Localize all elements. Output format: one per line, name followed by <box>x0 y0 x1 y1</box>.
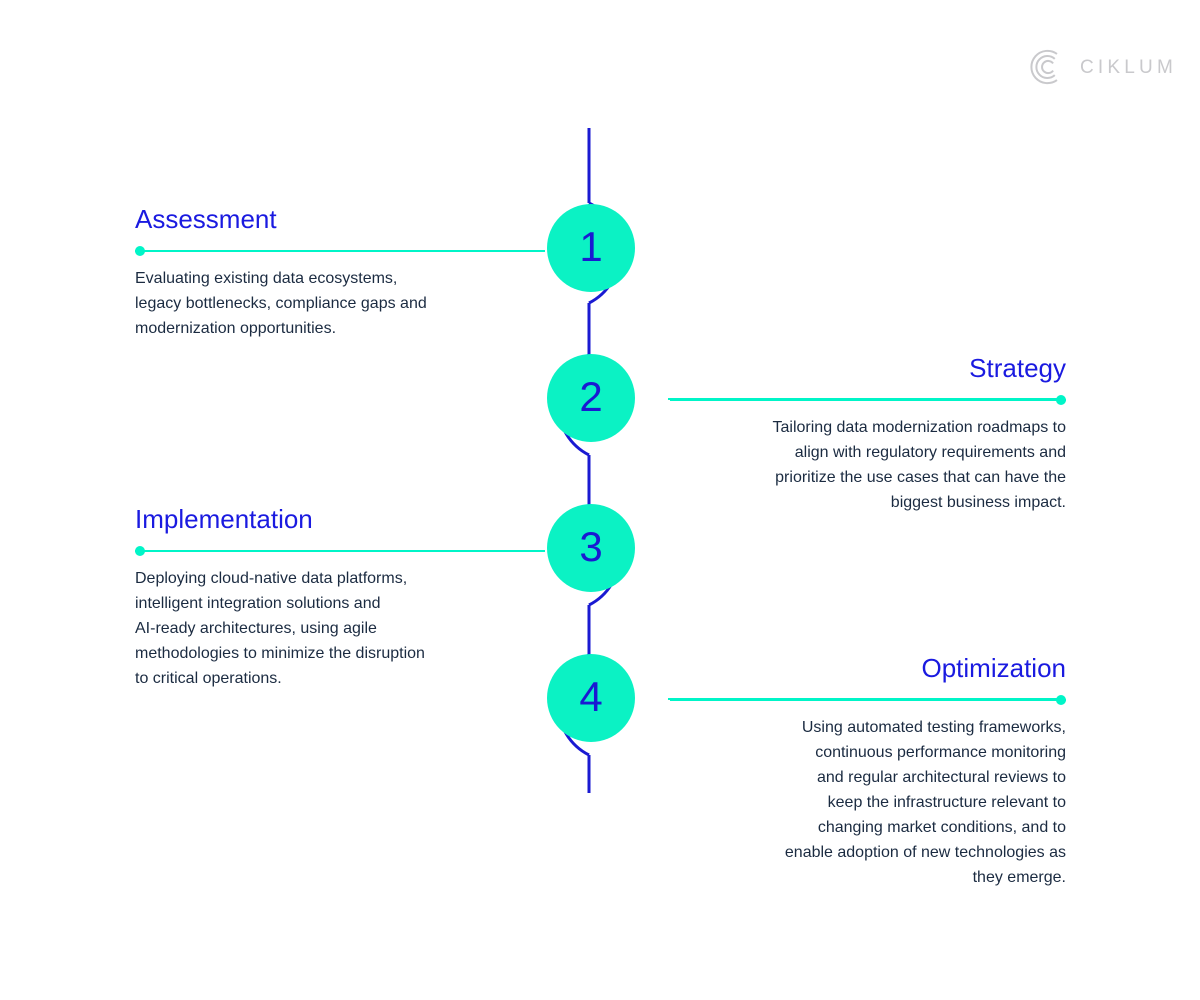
step-block-2: Strategy Tailoring data modernization ro… <box>670 354 1066 515</box>
step-node-3: 3 <box>547 504 635 592</box>
step-2-rule <box>670 395 1066 405</box>
step-node-1-number: 1 <box>579 226 602 268</box>
step-1-title: Assessment <box>135 205 545 235</box>
step-1-rule <box>135 246 545 256</box>
step-2-title: Strategy <box>670 354 1066 384</box>
step-4-title: Optimization <box>670 654 1066 684</box>
brand-wordmark: CIKLUM <box>1080 58 1177 77</box>
step-3-rule <box>135 546 545 556</box>
step-2-rule-dot <box>1056 395 1066 405</box>
brand-logo: CIKLUM <box>1028 48 1177 86</box>
step-node-2-number: 2 <box>579 376 602 418</box>
step-node-3-number: 3 <box>579 526 602 568</box>
ciklum-circular-c-icon <box>1028 48 1066 86</box>
step-3-rule-bar <box>135 550 545 552</box>
step-node-4: 4 <box>547 654 635 742</box>
step-node-4-number: 4 <box>579 676 602 718</box>
step-block-1: Assessment Evaluating existing data ecos… <box>135 205 545 341</box>
step-4-rule-dot <box>1056 695 1066 705</box>
step-4-body: Using automated testing frameworks, cont… <box>670 705 1066 890</box>
step-3-title: Implementation <box>135 505 545 535</box>
step-3-body: Deploying cloud-native data platforms, i… <box>135 556 545 691</box>
step-4-rule <box>670 695 1066 705</box>
step-node-2: 2 <box>547 354 635 442</box>
step-2-rule-bar <box>670 399 1066 401</box>
step-node-1: 1 <box>547 204 635 292</box>
step-block-4: Optimization Using automated testing fra… <box>670 654 1066 890</box>
step-1-rule-bar <box>135 250 545 252</box>
step-4-rule-bar <box>670 699 1066 701</box>
step-3-rule-dot <box>135 546 145 556</box>
step-1-body: Evaluating existing data ecosystems, leg… <box>135 256 545 341</box>
step-block-3: Implementation Deploying cloud-native da… <box>135 505 545 691</box>
step-1-rule-dot <box>135 246 145 256</box>
step-2-body: Tailoring data modernization roadmaps to… <box>670 405 1066 515</box>
